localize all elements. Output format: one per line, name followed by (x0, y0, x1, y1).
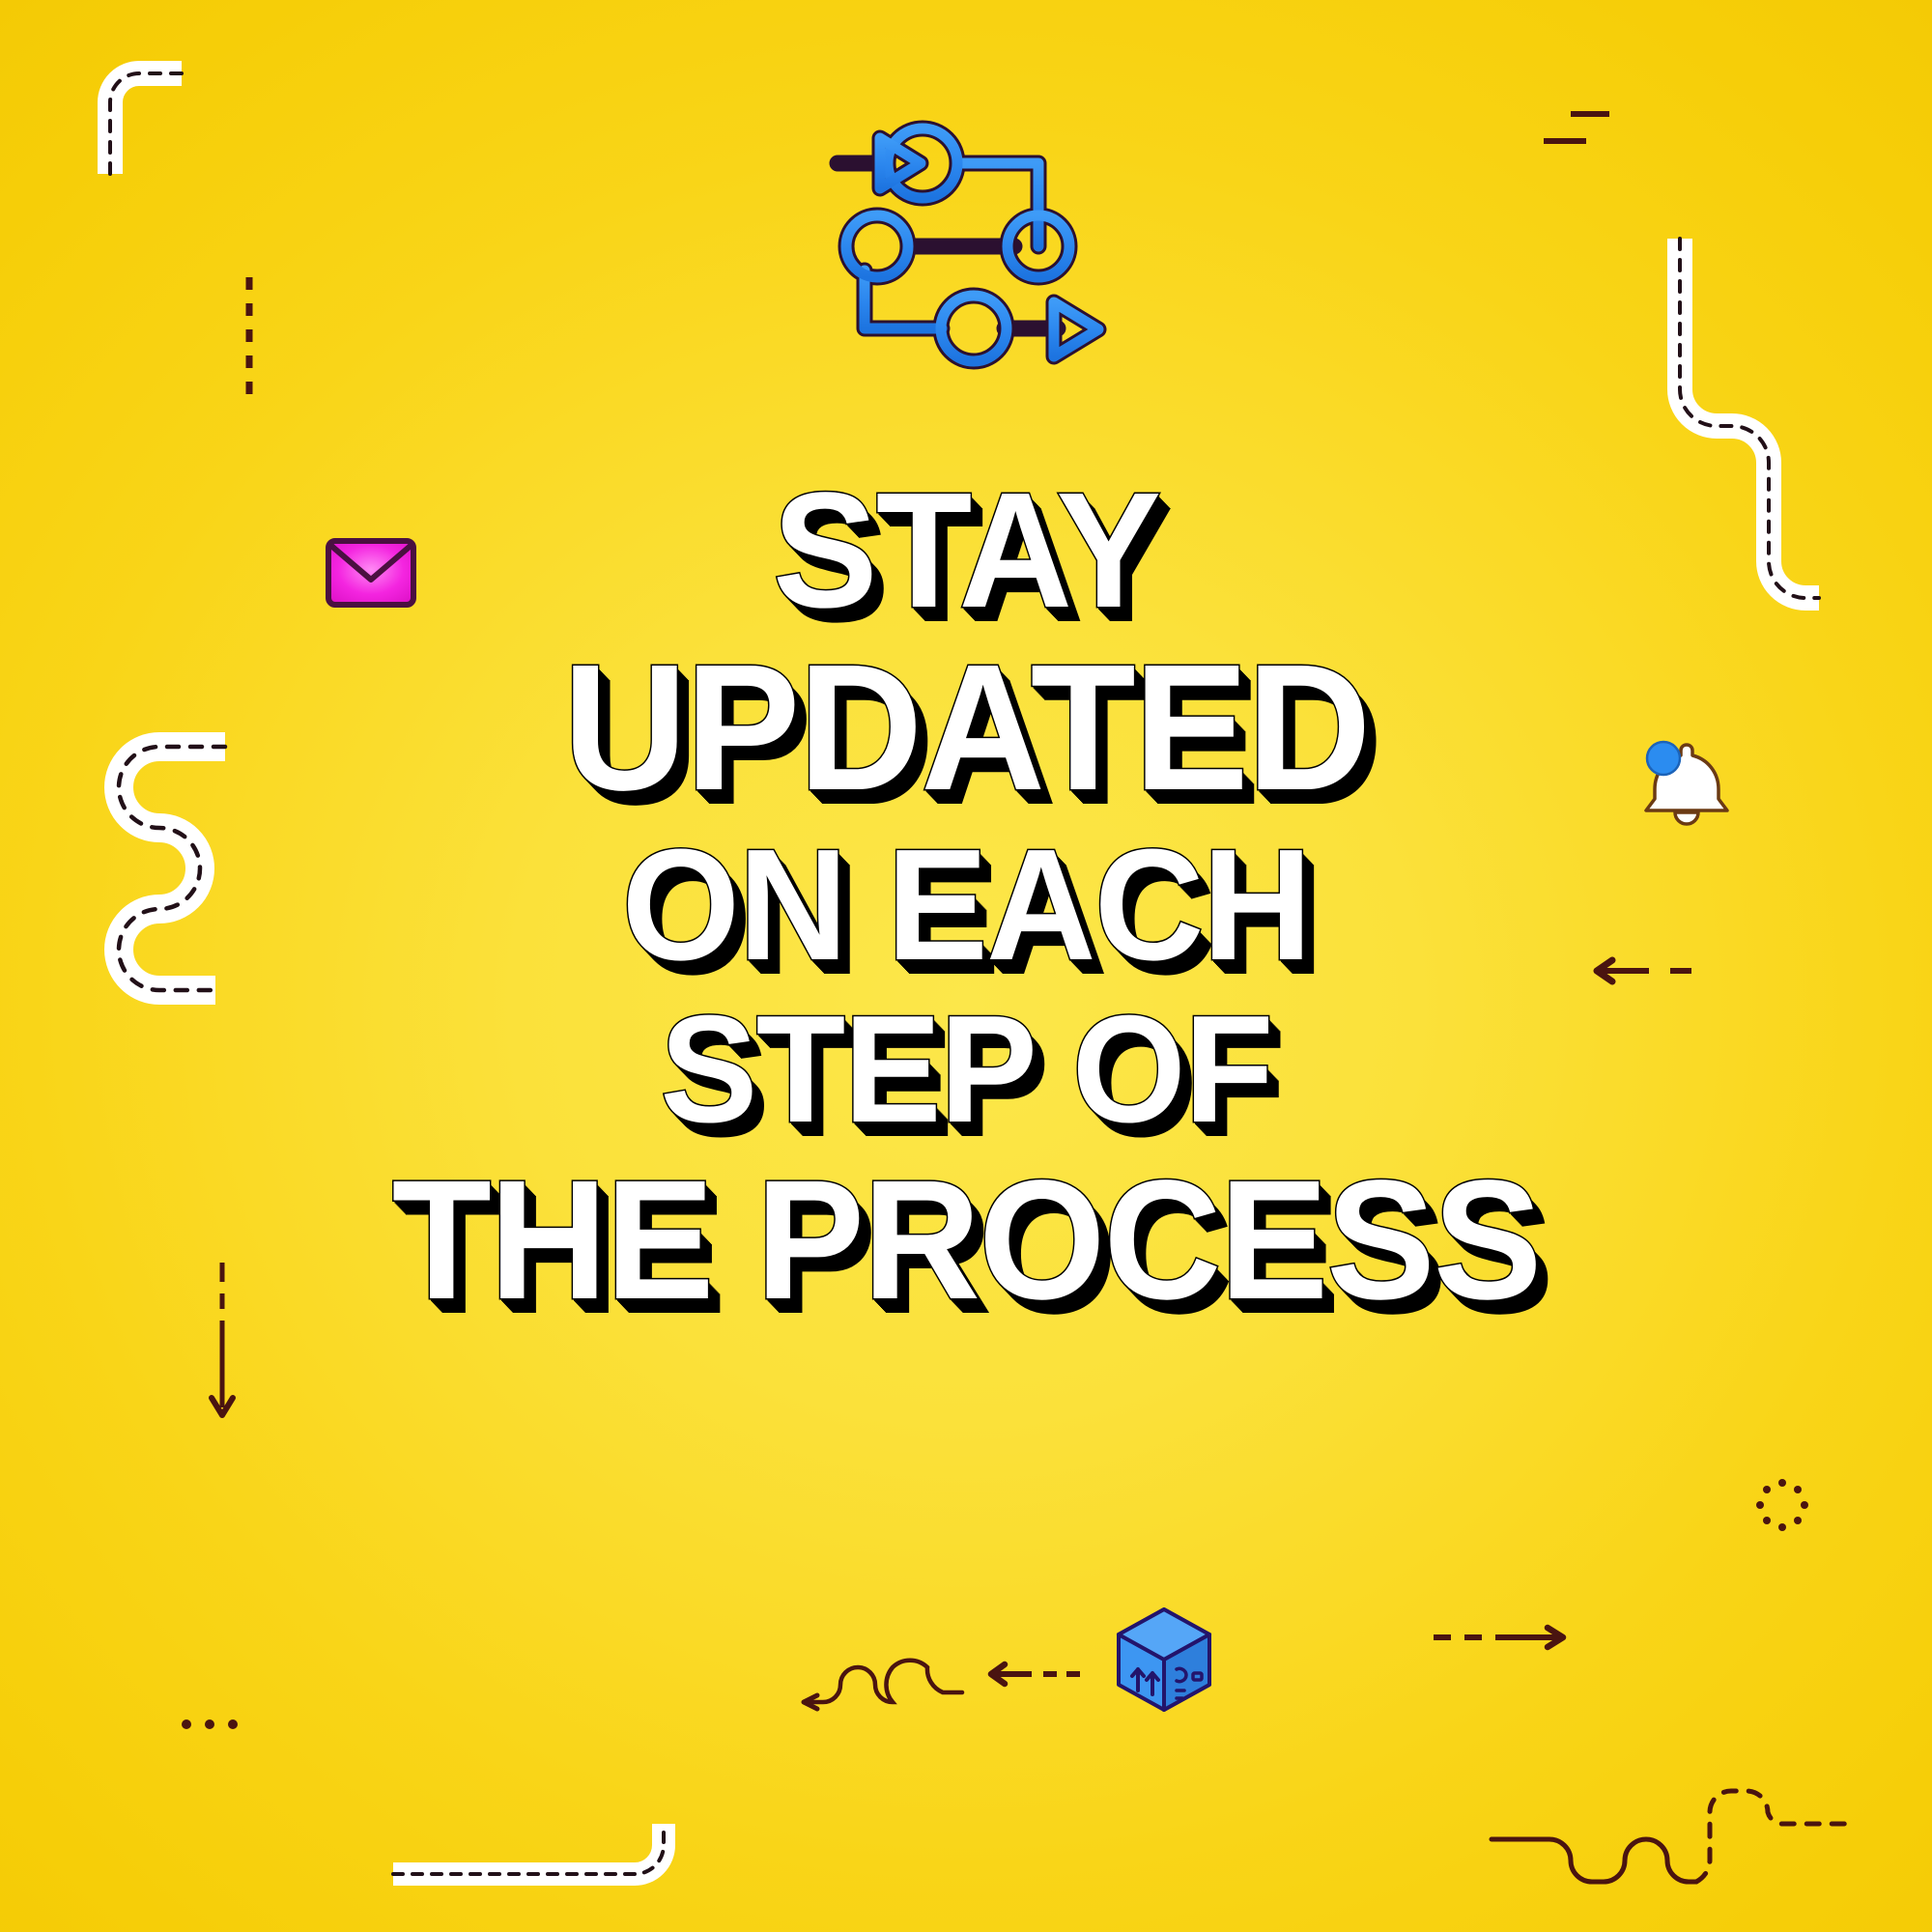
road-corner-bottom-left-icon (391, 1824, 681, 1891)
arrow-left-bottom-icon (976, 1657, 1082, 1691)
dash-pair-top-right-icon (1526, 97, 1652, 155)
squiggle-arrow-bottom-center-icon (792, 1633, 976, 1719)
headline-line-4: STEP OF (39, 994, 1893, 1145)
workflow-process-icon (816, 121, 1116, 372)
headline-block: STAY UPDATED ON EACH STEP OF THE PROCESS (0, 469, 1932, 1324)
headline-line-2: UPDATED (39, 639, 1893, 817)
dotted-ring-bottom-right-icon (1753, 1476, 1811, 1534)
package-box-icon (1113, 1605, 1215, 1714)
road-corner-top-left-icon (97, 60, 184, 176)
headline-line-1: STAY (39, 469, 1893, 632)
arrow-right-dashed-bottom-icon (1430, 1618, 1584, 1657)
headline-line-5: THE PROCESS (39, 1156, 1893, 1324)
three-dots-bottom-left-icon (179, 1715, 246, 1734)
squiggle-bottom-right-icon (1488, 1776, 1855, 1911)
dashed-vertical-line-top-left-icon (241, 275, 257, 401)
headline-line-3: ON EACH (39, 827, 1893, 983)
poster-canvas: STAY UPDATED ON EACH STEP OF THE PROCESS (0, 0, 1932, 1932)
